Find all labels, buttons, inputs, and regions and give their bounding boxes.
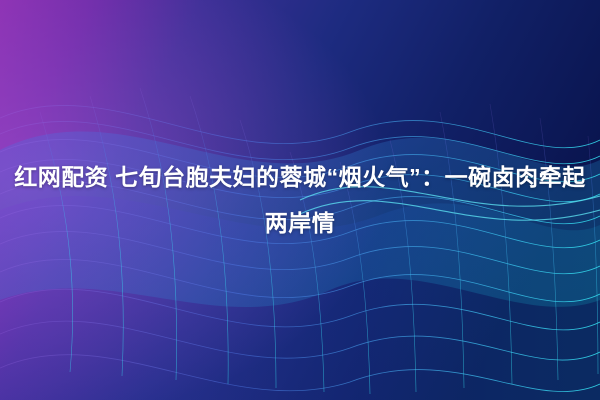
headline-container: 红网配资 七旬台胞夫妇的蓉城“烟火气”：一碗卤肉牵起两岸情 — [0, 0, 600, 400]
article-title-banner: 红网配资 七旬台胞夫妇的蓉城“烟火气”：一碗卤肉牵起两岸情 — [0, 0, 600, 400]
page-title: 红网配资 七旬台胞夫妇的蓉城“烟火气”：一碗卤肉牵起两岸情 — [0, 154, 600, 246]
